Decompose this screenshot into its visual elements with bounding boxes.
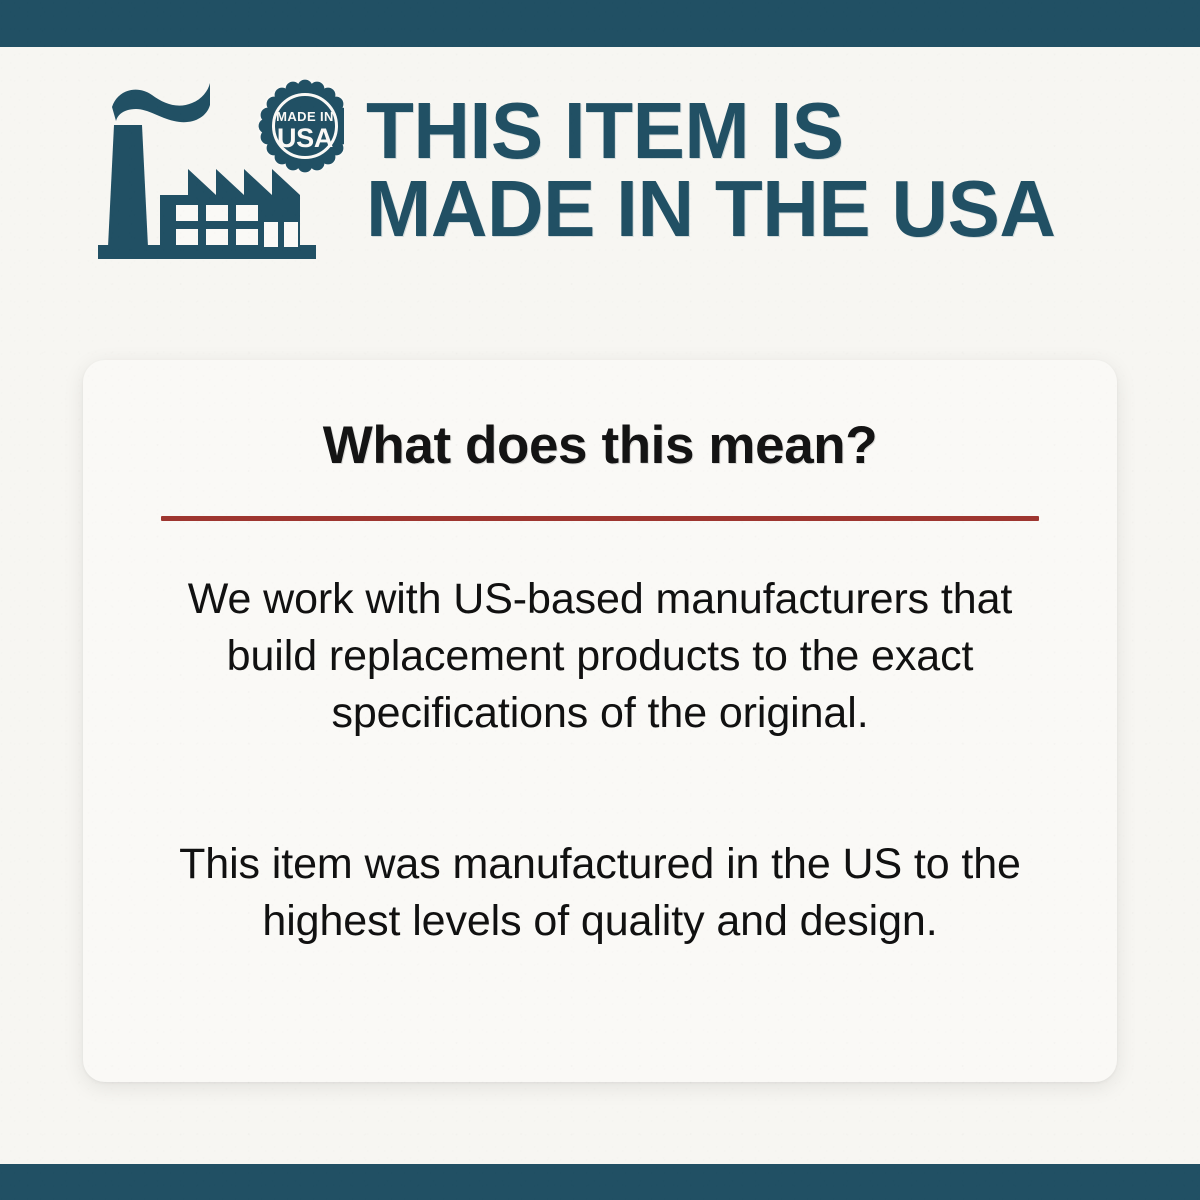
page-title: THIS ITEM IS MADE IN THE USA	[366, 92, 1200, 251]
page-root: MADE IN USA THIS ITEM IS MADE IN THE USA…	[0, 0, 1200, 1200]
title-line-2: MADE IN THE USA	[366, 170, 1183, 248]
card-heading: What does this mean?	[83, 418, 1117, 474]
made-in-usa-logo: MADE IN USA	[98, 77, 344, 267]
bottom-accent-bar	[0, 1164, 1200, 1200]
paragraph-2: This item was manufactured in the US to …	[139, 836, 1061, 950]
header: MADE IN USA THIS ITEM IS MADE IN THE USA	[0, 47, 1200, 297]
smoke-plume-icon	[112, 83, 210, 122]
svg-text:USA: USA	[277, 123, 333, 153]
smokestack-icon	[108, 125, 148, 247]
title-line-1: THIS ITEM IS	[366, 92, 1183, 170]
red-divider	[161, 516, 1039, 521]
svg-text:MADE IN: MADE IN	[276, 109, 334, 124]
made-in-usa-seal-icon: MADE IN USA	[258, 79, 344, 173]
factory-baseline	[98, 245, 316, 259]
info-card: What does this mean? We work with US-bas…	[83, 360, 1117, 1082]
card-body: We work with US-based manufacturers that…	[83, 571, 1117, 951]
top-accent-bar	[0, 0, 1200, 47]
paragraph-1: We work with US-based manufacturers that…	[139, 571, 1061, 743]
paragraph-spacer	[139, 742, 1061, 836]
